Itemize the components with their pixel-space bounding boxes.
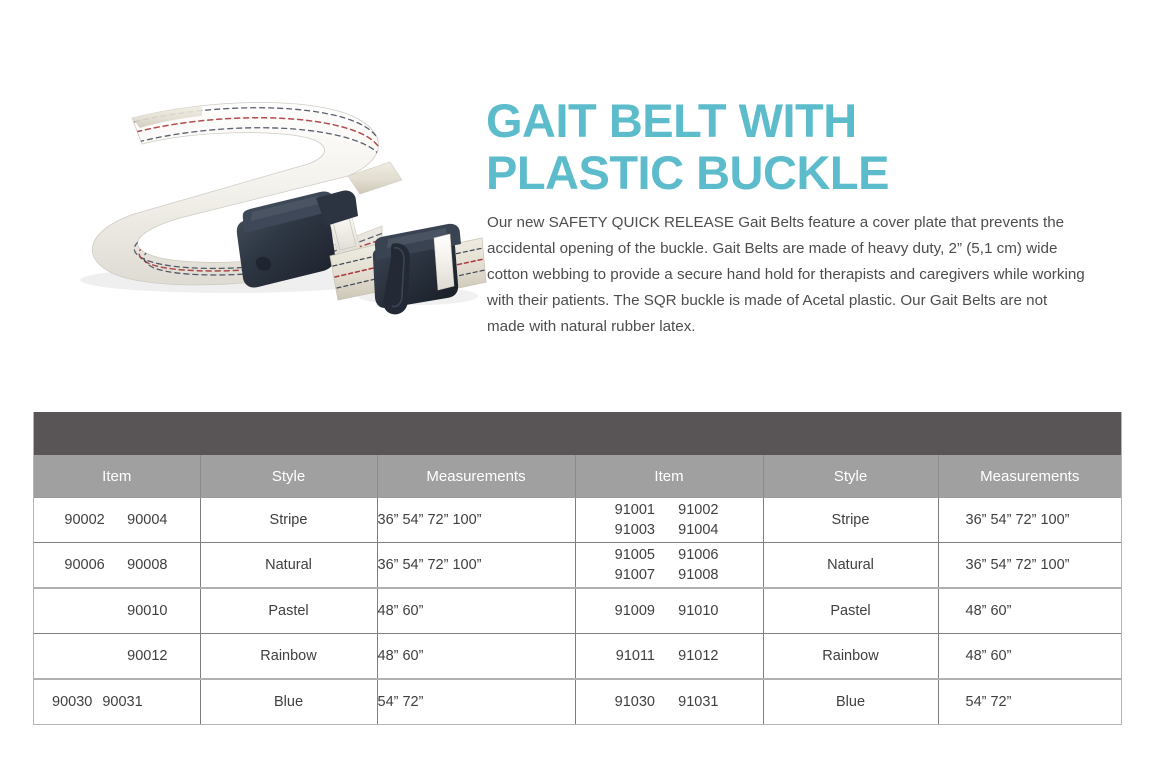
item-number-group: 90010 (34, 602, 200, 621)
cell-item-left: 90030 90031 (34, 679, 200, 724)
item-number: 90004 (115, 511, 168, 530)
table-top-band (34, 412, 1121, 455)
product-description: Our new SAFETY QUICK RELEASE Gait Belts … (487, 210, 1087, 340)
item-number: 90031 (102, 693, 142, 712)
item-number: 90008 (115, 556, 168, 575)
cell-measurements-left: 36” 54” 72” 100” (377, 498, 575, 543)
item-number-group: 91030 91031 (576, 693, 763, 712)
page-title-line-2: PLASTIC BUCKLE (486, 147, 1106, 199)
cell-item-left: 90012 (34, 634, 200, 680)
item-number-group: 90006 90008 (34, 556, 200, 575)
cell-style-right: Natural (763, 543, 938, 589)
item-number: 91006 (665, 546, 719, 565)
cell-measurements-right: 54” 72” (938, 679, 1121, 724)
cell-style-right: Rainbow (763, 634, 938, 680)
cell-item-left: 90006 90008 (34, 543, 200, 589)
cell-measurements-left: 54” 72” (377, 679, 575, 724)
item-number: 91004 (665, 521, 719, 540)
item-number: 91002 (665, 501, 719, 520)
cell-style-left: Stripe (200, 498, 377, 543)
item-number-group: 90002 90004 (34, 511, 200, 530)
item-number: 91003 (602, 521, 656, 540)
column-header-item-left: Item (34, 455, 200, 498)
cell-item-right: 91009 91010 (575, 588, 763, 634)
item-number-group: 91011 91012 (576, 647, 763, 666)
page-title-line-1: GAIT BELT WITH (486, 95, 1106, 147)
item-number-group: 90012 (34, 647, 200, 666)
product-image (30, 58, 490, 323)
cell-style-right: Pastel (763, 588, 938, 634)
item-number: 90030 (52, 693, 92, 712)
item-number: 90010 (115, 602, 168, 621)
cell-item-right: 91001 91002 91003 91004 (575, 498, 763, 543)
cell-style-left: Natural (200, 543, 377, 589)
cell-measurements-left: 48” 60” (377, 588, 575, 634)
column-header-measurements-left: Measurements (377, 455, 575, 498)
item-number-placeholder (52, 647, 105, 666)
item-number-group: 91009 91010 (576, 602, 763, 621)
column-header-style-right: Style (763, 455, 938, 498)
cell-style-right: Stripe (763, 498, 938, 543)
item-number: 90002 (52, 511, 105, 530)
item-table: Item Style Measurements Item Style Measu… (34, 455, 1121, 724)
item-number: 91031 (665, 693, 719, 712)
item-number: 91008 (665, 566, 719, 585)
specification-table: Item Style Measurements Item Style Measu… (33, 412, 1122, 725)
cell-measurements-left: 48” 60” (377, 634, 575, 680)
cell-measurements-right: 36” 54” 72” 100” (938, 498, 1121, 543)
cell-measurements-right: 48” 60” (938, 634, 1121, 680)
item-number-group: 91001 91002 91003 91004 (576, 501, 763, 540)
gait-belt-illustration (30, 58, 490, 323)
item-number-placeholder (52, 602, 105, 621)
item-number: 91007 (602, 566, 656, 585)
table-row: 90030 90031 Blue 54” 72” 91030 91031 Blu… (34, 679, 1121, 724)
cell-measurements-left: 36” 54” 72” 100” (377, 543, 575, 589)
cell-style-right: Blue (763, 679, 938, 724)
table-row: 90002 90004 Stripe 36” 54” 72” 100” 9100… (34, 498, 1121, 543)
cell-style-left: Pastel (200, 588, 377, 634)
item-number: 90006 (52, 556, 105, 575)
column-header-item-right: Item (575, 455, 763, 498)
table-row: 90006 90008 Natural 36” 54” 72” 100” 910… (34, 543, 1121, 589)
item-number: 91010 (665, 602, 719, 621)
cell-measurements-right: 48” 60” (938, 588, 1121, 634)
table-header-row: Item Style Measurements Item Style Measu… (34, 455, 1121, 498)
cell-item-left: 90010 (34, 588, 200, 634)
item-number: 91005 (602, 546, 656, 565)
page-title: GAIT BELT WITH PLASTIC BUCKLE (486, 95, 1106, 199)
item-number: 91012 (665, 647, 719, 666)
item-number-group: 91005 91006 91007 91008 (576, 546, 763, 585)
item-number: 91011 (602, 647, 656, 666)
item-number: 90012 (115, 647, 168, 666)
cell-item-right: 91005 91006 91007 91008 (575, 543, 763, 589)
cell-style-left: Blue (200, 679, 377, 724)
cell-style-left: Rainbow (200, 634, 377, 680)
cell-item-left: 90002 90004 (34, 498, 200, 543)
item-number: 91001 (602, 501, 656, 520)
item-number-group: 90030 90031 (34, 693, 200, 712)
cell-item-right: 91030 91031 (575, 679, 763, 724)
item-number: 91030 (602, 693, 656, 712)
column-header-style-left: Style (200, 455, 377, 498)
table-row: 90012 Rainbow 48” 60” 91011 91012 Rainbo… (34, 634, 1121, 680)
column-header-measurements-right: Measurements (938, 455, 1121, 498)
cell-item-right: 91011 91012 (575, 634, 763, 680)
item-number: 91009 (602, 602, 656, 621)
cell-measurements-right: 36” 54” 72” 100” (938, 543, 1121, 589)
table-row: 90010 Pastel 48” 60” 91009 91010 Pastel … (34, 588, 1121, 634)
